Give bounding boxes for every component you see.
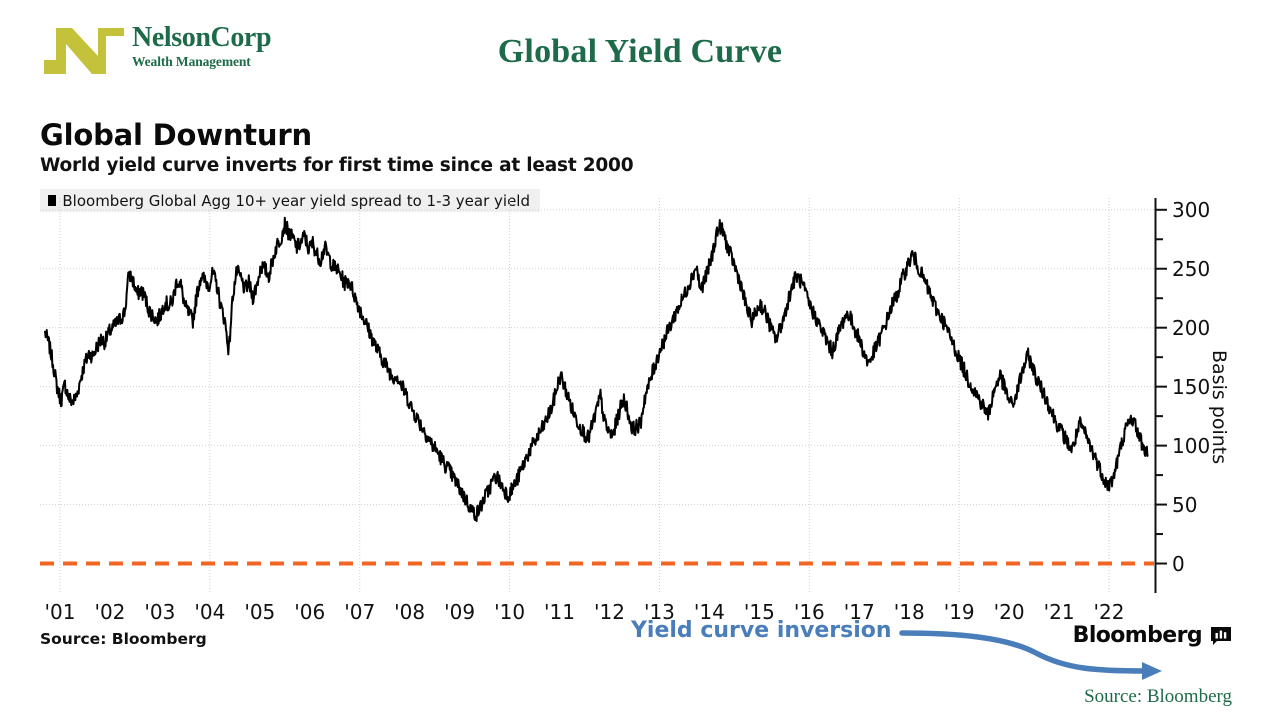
y-tick-label: 250 [1172, 257, 1210, 281]
bloomberg-chart-panel: Global Downturn World yield curve invert… [36, 118, 1248, 658]
bloomberg-bars-icon [1210, 626, 1232, 646]
chart-subheadline: World yield curve inverts for first time… [40, 155, 633, 176]
plot-area [40, 198, 1154, 593]
page-title: Global Yield Curve [0, 33, 1280, 71]
y-tick-label: 200 [1172, 316, 1210, 340]
grid-lines [40, 198, 1154, 593]
x-tick-label: '05 [244, 600, 275, 624]
x-tick-label: '03 [144, 600, 175, 624]
series-lines [45, 218, 1148, 521]
y-tick-label: 100 [1172, 434, 1210, 458]
x-tick-label: '12 [594, 600, 625, 624]
y-axis-spine [1154, 198, 1168, 593]
x-tick-label: '06 [294, 600, 325, 624]
yield-spread-line-chart [40, 198, 1154, 593]
x-tick-label: '02 [94, 600, 125, 624]
x-tick-label: '01 [44, 600, 75, 624]
y-tick-label: 50 [1172, 493, 1197, 517]
chart-headline: Global Downturn [40, 118, 312, 152]
chart-source-note: Source: Bloomberg [40, 630, 207, 648]
y-tick-label: 300 [1172, 198, 1210, 222]
annotation-text: Yield curve inversion [631, 618, 892, 643]
x-tick-label: '11 [544, 600, 575, 624]
x-tick-label: '10 [494, 600, 525, 624]
y-tick-label: 150 [1172, 375, 1210, 399]
y-axis: 050100150200250300 Basis points [1154, 198, 1254, 593]
x-tick-label: '08 [394, 600, 425, 624]
y-tick-label: 0 [1172, 552, 1185, 576]
y-axis-title: Basis points [1208, 350, 1230, 464]
x-tick-label: '09 [444, 600, 475, 624]
x-tick-label: '04 [194, 600, 225, 624]
curved-arrow-icon [896, 613, 1186, 693]
x-tick-label: '07 [344, 600, 375, 624]
